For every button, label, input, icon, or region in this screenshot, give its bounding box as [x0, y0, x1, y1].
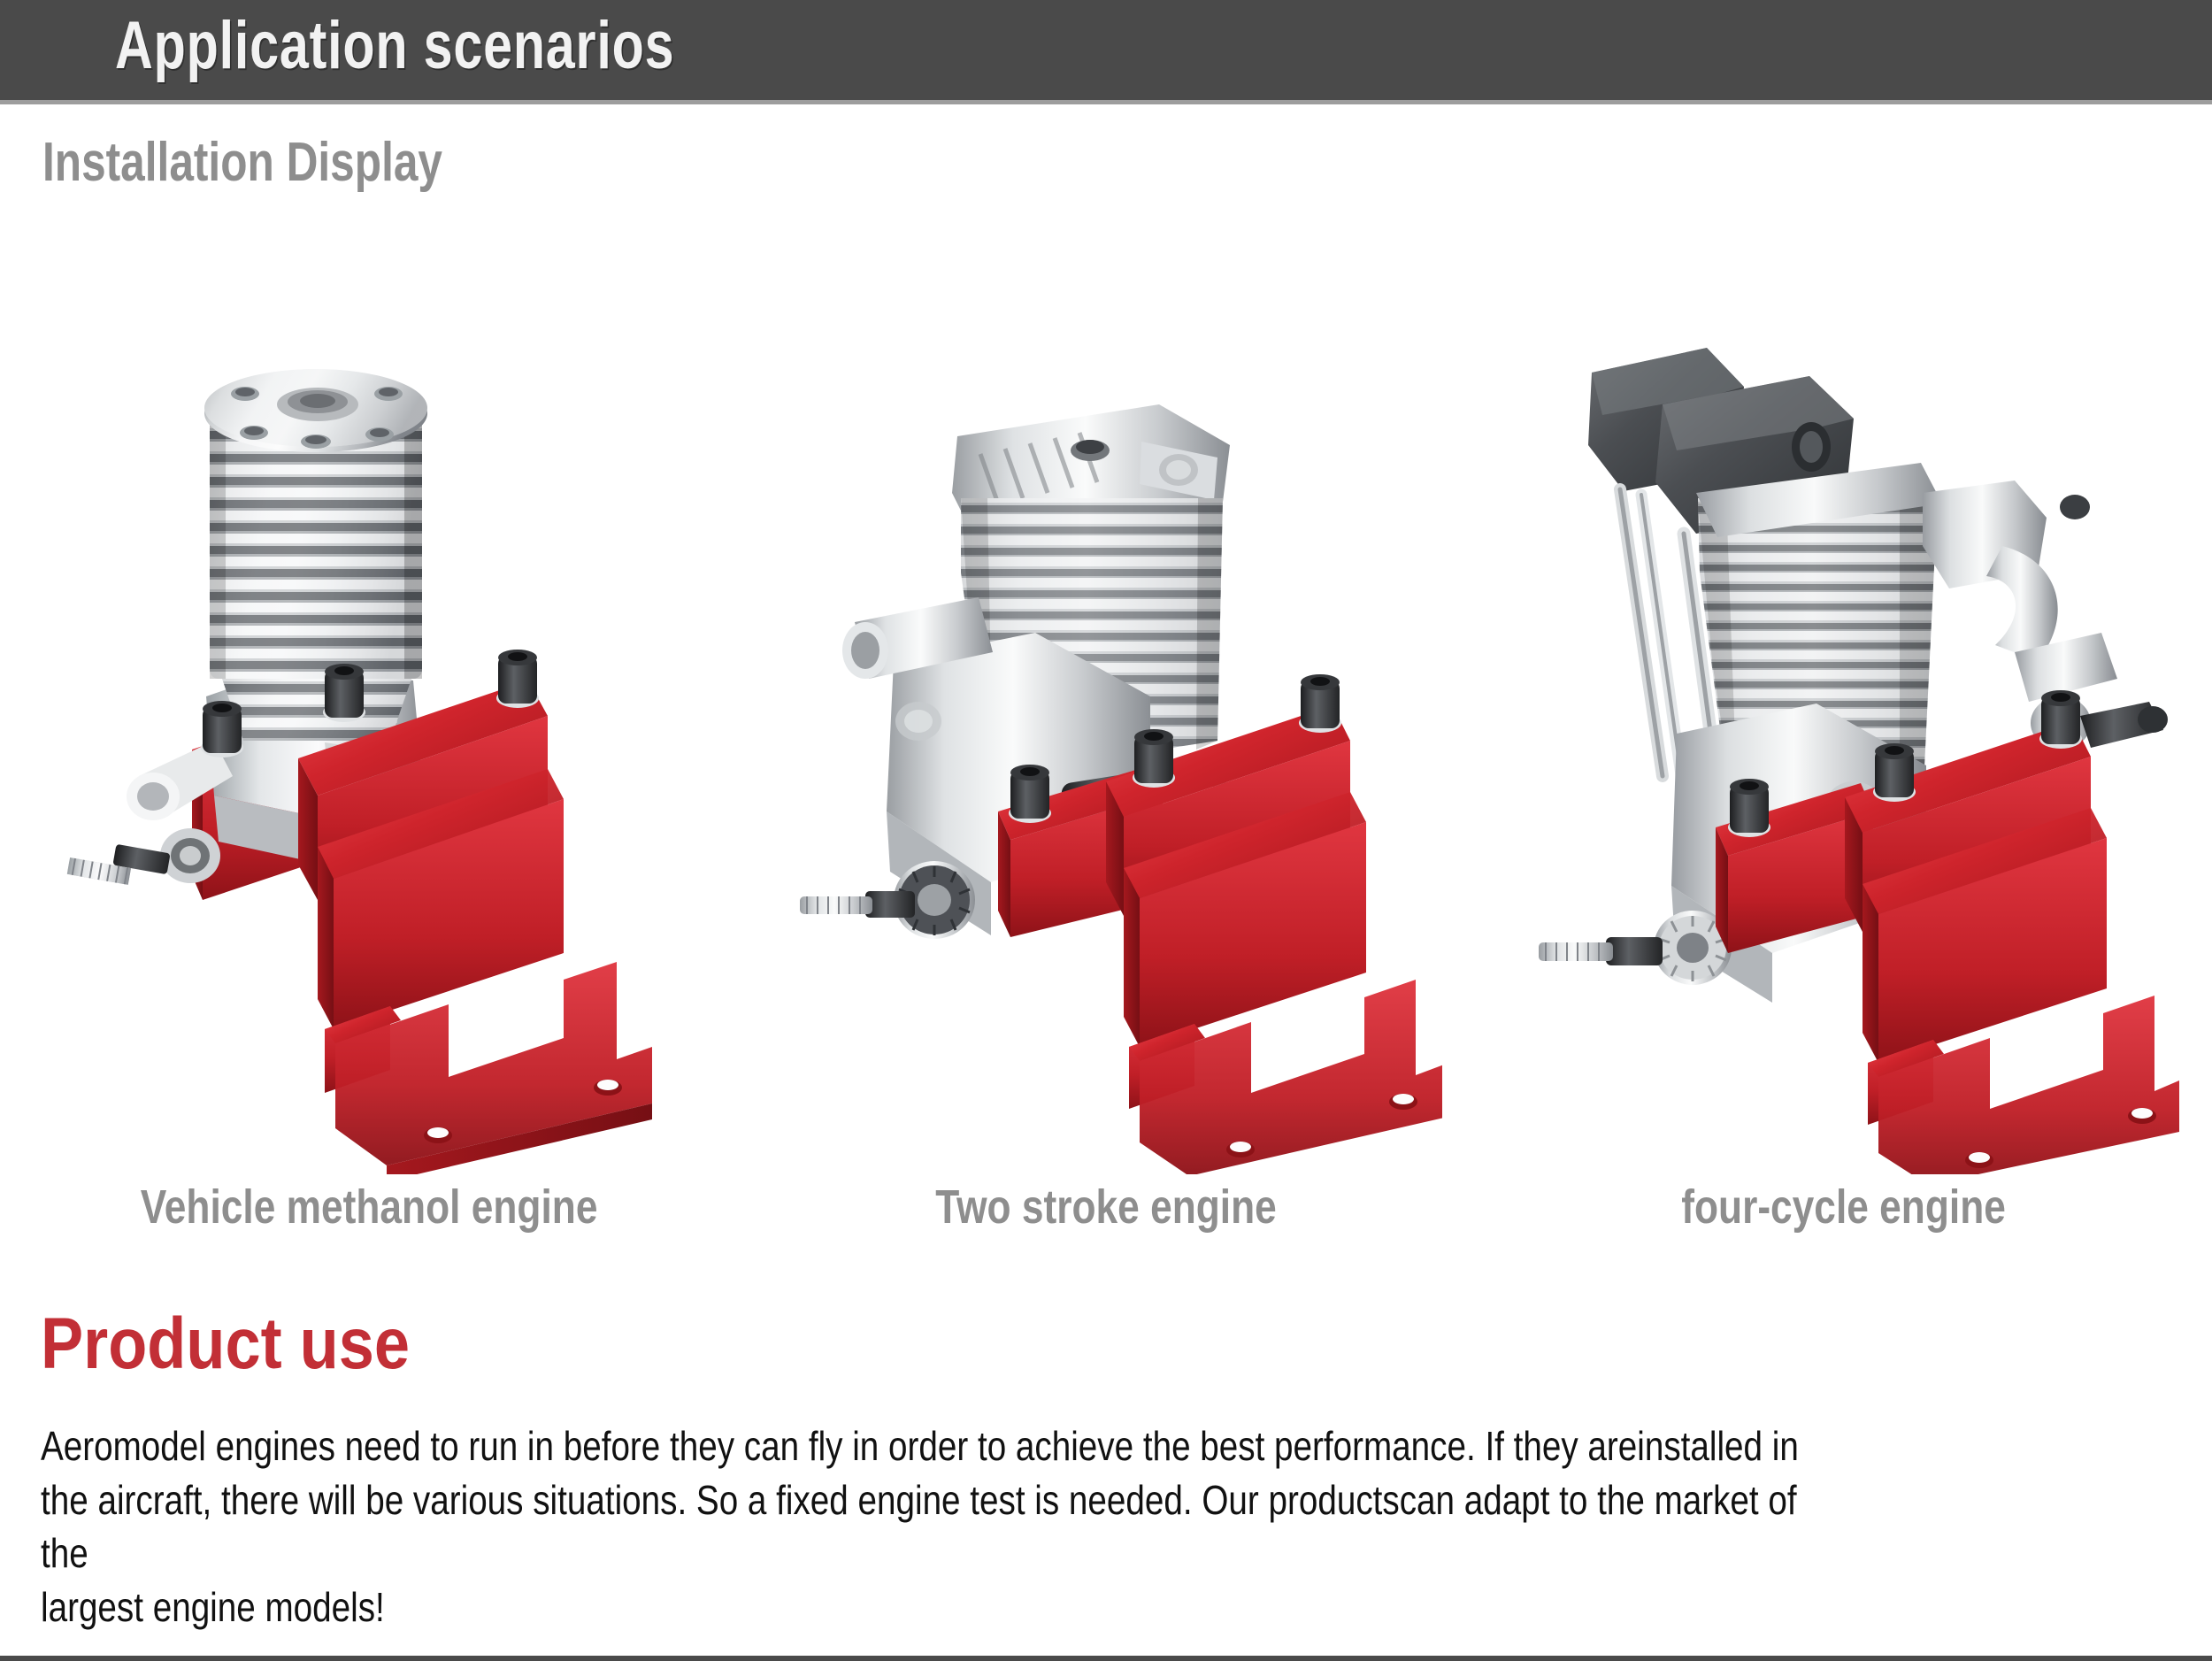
installation-gallery: Vehicle methanol engine [0, 199, 2212, 1234]
gallery-item-four-cycle: four-cycle engine [1498, 199, 2188, 1234]
product-use-body-line: Aeromodel engines need to run in before … [41, 1419, 1839, 1473]
engine-photo-vehicle-methanol [33, 281, 705, 1174]
engine-photo-four-cycle [1507, 281, 2179, 1174]
header-divider [0, 100, 2212, 104]
engine-illustration-two-stroke [770, 281, 1442, 1174]
engine-caption: Two stroke engine [935, 1180, 1276, 1234]
gallery-item-vehicle-methanol: Vehicle methanol engine [24, 199, 714, 1234]
product-use-body-line: largest engine models! [41, 1580, 1839, 1634]
engine-photo-two-stroke [770, 281, 1442, 1174]
product-use-section: Product use Aeromodel engines need to ru… [41, 1308, 2182, 1634]
section-subtitle-installation-display: Installation Display [42, 131, 442, 194]
product-use-body: Aeromodel engines need to run in before … [41, 1419, 1839, 1634]
product-use-heading: Product use [41, 1308, 1925, 1380]
engine-caption: Vehicle methanol engine [140, 1180, 597, 1234]
engine-caption: four-cycle engine [1681, 1180, 2006, 1234]
engine-illustration-four-cycle [1507, 281, 2179, 1174]
product-use-body-line: the aircraft, there will be various situ… [41, 1473, 1839, 1580]
page-title: Application scenarios [115, 7, 674, 84]
engine-illustration-vehicle-methanol [33, 281, 705, 1174]
gallery-item-two-stroke: Two stroke engine [761, 199, 1451, 1234]
